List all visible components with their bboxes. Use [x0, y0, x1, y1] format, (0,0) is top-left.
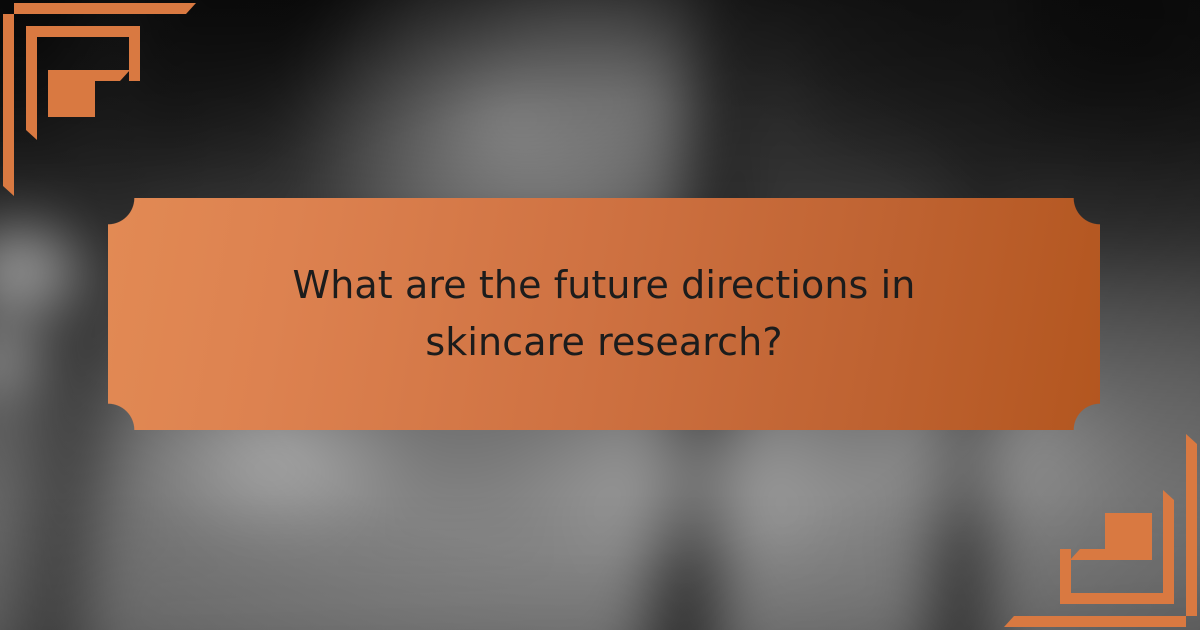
- share-card: What are the future directions in skinca…: [0, 0, 1200, 630]
- question-title: What are the future directions in skinca…: [234, 257, 974, 371]
- question-banner: What are the future directions in skinca…: [108, 198, 1100, 430]
